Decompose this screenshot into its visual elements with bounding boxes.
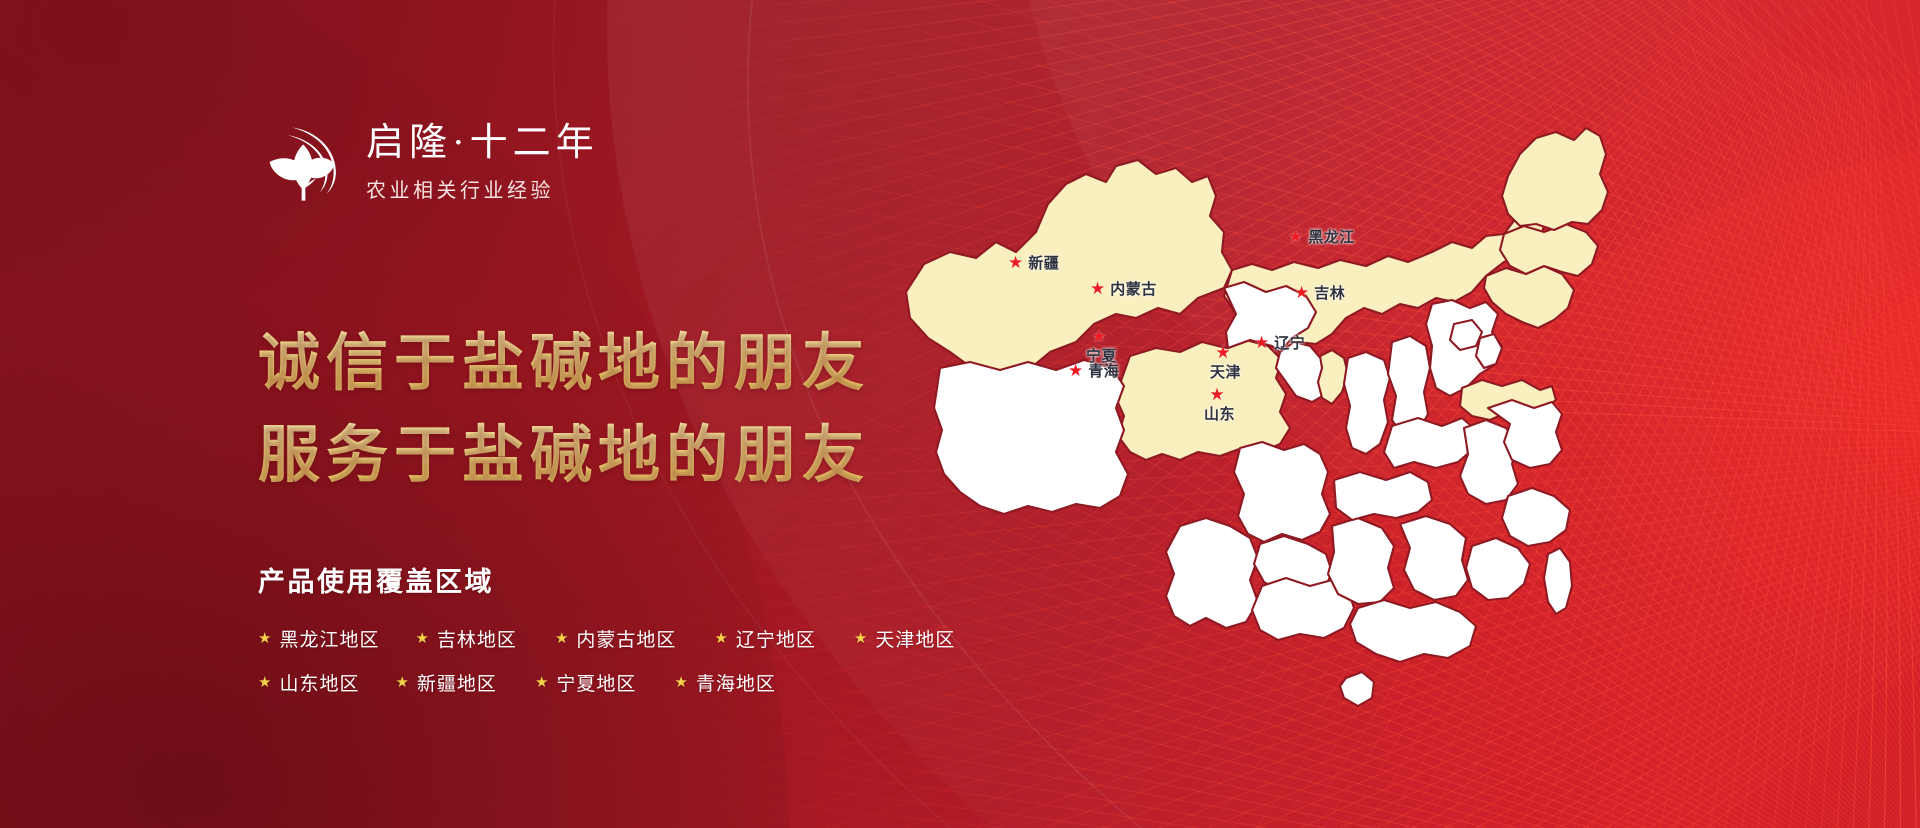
province-xinjiang (906, 160, 1232, 376)
map-marker-label: 青海 (1088, 360, 1119, 381)
left-content: 启隆·十二年 农业相关行业经验 诚信于盐碱地的朋友 服务于盐碱地的朋友 产品使用… (0, 0, 900, 828)
region-label: 吉林地区 (437, 625, 517, 652)
star-icon: ★ (1068, 362, 1083, 379)
star-icon: ★ (555, 631, 568, 646)
promo-banner: 启隆·十二年 农业相关行业经验 诚信于盐碱地的朋友 服务于盐碱地的朋友 产品使用… (0, 0, 1920, 828)
china-coverage-map: ★ 黑龙江 ★ 吉林 ★ 辽宁 ★ 天津 ★ 山东 ★ 内蒙古 ★ 宁夏 ★ 新 (880, 56, 1620, 756)
coverage-region-list: ★ 黑龙江地区 ★ 吉林地区 ★ 内蒙古地区 ★ 辽宁地区 ★ 天津地区 (258, 625, 898, 713)
region-item-shandong[interactable]: ★ 山东地区 (258, 669, 359, 696)
lotus-leaf-emblem-icon (262, 120, 346, 204)
province-sichuan (1234, 442, 1330, 542)
region-item-xinjiang[interactable]: ★ 新疆地区 (395, 669, 496, 696)
headline-line-2: 服务于盐碱地的朋友 (258, 404, 870, 494)
province-fujian (1466, 538, 1530, 600)
province-tianjin (1476, 334, 1502, 368)
province-hainan (1340, 672, 1374, 706)
region-label: 辽宁地区 (736, 625, 816, 652)
map-marker-tianjin[interactable]: ★ 天津 (1210, 344, 1241, 382)
region-item-ningxia[interactable]: ★ 宁夏地区 (535, 669, 636, 696)
map-marker-inner-mongolia[interactable]: ★ 内蒙古 (1090, 278, 1157, 299)
map-marker-heilongjiang[interactable]: ★ 黑龙江 (1288, 226, 1355, 247)
province-heilongjiang (1502, 128, 1608, 230)
region-item-heilongjiang[interactable]: ★ 黑龙江地区 (258, 625, 379, 652)
star-icon: ★ (674, 675, 687, 690)
region-item-qinghai[interactable]: ★ 青海地区 (674, 669, 775, 696)
star-icon: ★ (1215, 344, 1230, 361)
province-zhejiang (1502, 488, 1570, 546)
map-marker-label: 新疆 (1028, 252, 1059, 273)
star-icon: ★ (1091, 328, 1106, 345)
region-label: 新疆地区 (417, 669, 497, 696)
headline-line-1: 诚信于盐碱地的朋友 (258, 312, 870, 402)
province-guangdong (1350, 600, 1476, 662)
region-label: 内蒙古地区 (576, 625, 676, 652)
star-icon: ★ (1090, 280, 1105, 297)
region-item-tianjin[interactable]: ★ 天津地区 (854, 625, 955, 652)
province-jiangxi (1400, 516, 1468, 600)
region-item-jilin[interactable]: ★ 吉林地区 (415, 625, 516, 652)
province-yunnan (1166, 518, 1258, 628)
coverage-section-title: 产品使用覆盖区域 (258, 560, 494, 599)
region-label: 天津地区 (875, 625, 955, 652)
region-label: 宁夏地区 (556, 669, 636, 696)
province-hubei (1334, 472, 1432, 520)
brand-title: 启隆·十二年 (366, 123, 599, 164)
star-icon: ★ (395, 675, 408, 690)
star-icon: ★ (415, 631, 428, 646)
region-label: 黑龙江地区 (279, 625, 379, 652)
coverage-region-row: ★ 山东地区 ★ 新疆地区 ★ 宁夏地区 ★ 青海地区 (258, 669, 898, 696)
star-icon: ★ (854, 631, 867, 646)
region-label: 青海地区 (696, 669, 776, 696)
map-marker-liaoning[interactable]: ★ 辽宁 (1254, 332, 1305, 353)
map-marker-shandong[interactable]: ★ 山东 (1204, 386, 1235, 424)
province-hunan (1328, 518, 1394, 604)
star-icon: ★ (1254, 334, 1269, 351)
brand-text: 启隆·十二年 农业相关行业经验 (366, 121, 599, 202)
map-marker-label: 天津 (1210, 361, 1241, 382)
province-henan (1384, 418, 1476, 468)
star-icon: ★ (1209, 386, 1224, 403)
brand-logo-block: 启隆·十二年 农业相关行业经验 (262, 120, 599, 204)
map-marker-xinjiang[interactable]: ★ 新疆 (1008, 252, 1059, 273)
map-marker-qinghai[interactable]: ★ 青海 (1068, 360, 1119, 381)
region-label: 山东地区 (279, 669, 359, 696)
china-map-svg (880, 56, 1620, 756)
star-icon: ★ (535, 675, 548, 690)
province-taiwan (1544, 548, 1572, 614)
star-icon: ★ (1294, 284, 1309, 301)
map-marker-label: 辽宁 (1274, 332, 1305, 353)
star-icon: ★ (258, 631, 271, 646)
star-icon: ★ (714, 631, 727, 646)
brand-subtitle: 农业相关行业经验 (366, 174, 599, 203)
region-item-inner-mongolia[interactable]: ★ 内蒙古地区 (555, 625, 676, 652)
map-marker-label: 吉林 (1314, 282, 1345, 303)
province-jilin (1500, 224, 1598, 276)
map-marker-label: 山东 (1204, 403, 1235, 424)
province-shaanxi (1344, 352, 1390, 454)
province-ningxia (1318, 350, 1348, 404)
map-marker-label: 内蒙古 (1110, 278, 1157, 299)
map-marker-label: 黑龙江 (1308, 226, 1355, 247)
map-marker-jilin[interactable]: ★ 吉林 (1294, 282, 1345, 303)
coverage-region-row: ★ 黑龙江地区 ★ 吉林地区 ★ 内蒙古地区 ★ 辽宁地区 ★ 天津地区 (258, 625, 898, 652)
star-icon: ★ (1008, 254, 1023, 271)
star-icon: ★ (1288, 228, 1303, 245)
star-icon: ★ (258, 675, 271, 690)
region-item-liaoning[interactable]: ★ 辽宁地区 (714, 625, 815, 652)
province-tibet (934, 360, 1128, 514)
